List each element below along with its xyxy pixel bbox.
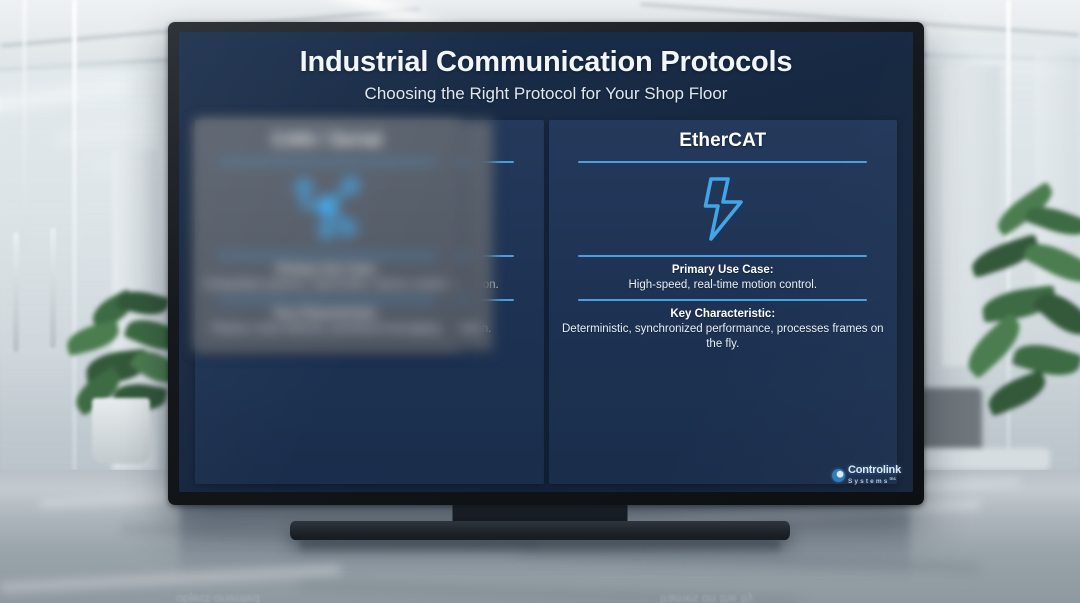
logo-suffix: Inc <box>889 476 896 481</box>
monitor: Industrial Communication Protocols Choos… <box>168 22 924 505</box>
protocol-card-can-serial[interactable]: CAN / Serial <box>195 120 459 351</box>
card-title: EtherCAT <box>679 130 766 152</box>
key-characteristic-text: Robust, noise-tolerant, prioritised mess… <box>205 322 449 337</box>
logo-tagline: Systems <box>848 479 889 486</box>
logo-name: Controlink <box>848 465 901 476</box>
primary-use-case-label: Primary Use Case: <box>205 264 449 276</box>
lightning-bolt-icon <box>557 163 890 255</box>
protocol-card-list: Modbus Primary Use Case: Simple data exc… <box>195 120 897 484</box>
presentation-slide: Industrial Communication Protocols Choos… <box>179 32 913 492</box>
office-scene: object-oriented. frames on the fly. Indu… <box>0 0 1080 603</box>
primary-use-case-label: Primary Use Case: <box>559 264 888 276</box>
primary-use-case-text: High-speed, real-time motion control. <box>559 278 888 293</box>
card-title: CAN / Serial <box>272 130 382 152</box>
primary-use-case: Primary Use Case: High-speed, real-time … <box>557 257 890 299</box>
network-node-icon <box>203 163 451 255</box>
key-characteristic-label: Key Characteristic: <box>559 308 888 320</box>
page-subtitle: Choosing the Right Protocol for Your Sho… <box>195 84 897 104</box>
primary-use-case-text: Embedded systems, automotive, device con… <box>205 278 449 293</box>
key-characteristic-text: Deterministic, synchronized performance,… <box>559 322 888 352</box>
page-title: Industrial Communication Protocols <box>195 46 897 79</box>
plant-pot-left <box>92 398 150 464</box>
company-logo: Controlink SystemsInc <box>832 465 901 486</box>
key-characteristic: Key Characteristic: Robust, noise-tolera… <box>203 301 451 343</box>
reflected-text-right: frames on the fly. <box>660 592 757 603</box>
logo-mark-icon <box>832 469 845 482</box>
monitor-screen: Industrial Communication Protocols Choos… <box>179 32 913 492</box>
monitor-stand-base <box>290 521 790 540</box>
key-characteristic: Key Characteristic: Deterministic, synch… <box>557 301 890 358</box>
protocol-card-ethercat[interactable]: EtherCAT Primary Use Case: High-speed, r… <box>549 120 898 484</box>
primary-use-case: Primary Use Case: Embedded systems, auto… <box>203 257 451 299</box>
reflected-text-left: object-oriented. <box>176 592 264 603</box>
key-characteristic-label: Key Characteristic: <box>205 308 449 320</box>
